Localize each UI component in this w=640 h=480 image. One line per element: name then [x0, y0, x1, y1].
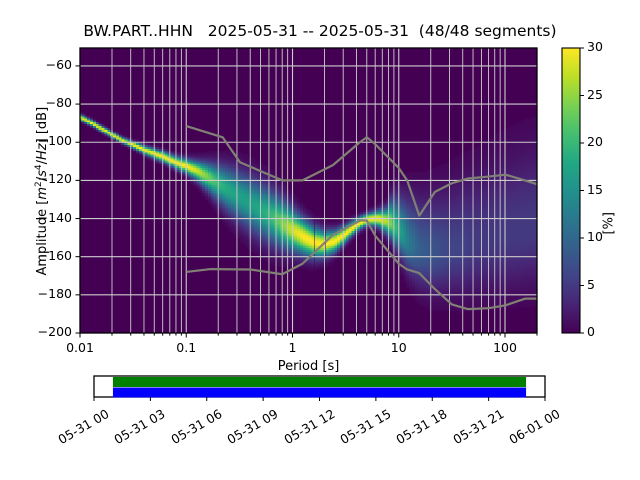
low-noise-model-curve [186, 220, 537, 309]
x-tick-label: 0.1 [146, 340, 226, 355]
colorbar-ticks [580, 48, 584, 333]
timeline-tick-label: 06-01 00 [498, 406, 563, 452]
plot-gridlines [80, 48, 537, 333]
colorbar-tick-label: 25 [587, 87, 603, 102]
x-tick-label: 0.01 [40, 340, 120, 355]
y-tick-label: −200 [0, 324, 72, 339]
x-axis-label: Period [s] [0, 359, 617, 374]
axis-ticks [76, 66, 538, 338]
timeline-tick-label: 05-31 21 [441, 406, 506, 452]
timeline-tick-label: 05-31 18 [385, 406, 450, 452]
data-availability-bar [113, 388, 526, 398]
plot-background [80, 48, 537, 333]
x-tick-label: 1 [253, 340, 333, 355]
figure-title: BW.PART..HHN 2025-05-31 -- 2025-05-31 (4… [0, 22, 640, 40]
ppsd-axes [0, 0, 640, 480]
timeline-tick-label: 05-31 09 [216, 406, 281, 452]
timeline-frame [94, 376, 545, 397]
plot-frame [80, 48, 537, 333]
timeline-tick-label: 05-31 03 [103, 406, 168, 452]
x-tick-label: 100 [465, 340, 545, 355]
peterson-noise-models [186, 126, 537, 309]
timeline-tick-label: 05-31 12 [272, 406, 337, 452]
ppsd-figure: BW.PART..HHN 2025-05-31 -- 2025-05-31 (4… [0, 0, 640, 480]
y-axis-label: Amplitude [m2/s4/Hz] [dB] [34, 61, 50, 321]
high-noise-model-curve [186, 126, 537, 216]
ppsd-histogram [79, 113, 539, 313]
timeline-tick-label: 05-31 00 [47, 406, 112, 452]
x-tick-label: 10 [359, 340, 439, 355]
colorbar-tick-label: 0 [587, 324, 595, 339]
colorbar-gradient [562, 48, 580, 333]
colorbar-tick-label: 5 [587, 277, 595, 292]
timeline-axes [94, 376, 545, 401]
timeline-tick-label: 05-31 15 [329, 406, 394, 452]
colorbar-tick-label: 30 [587, 39, 603, 54]
colorbar-label: [%] [602, 145, 617, 235]
psd-segments-bar [113, 377, 526, 387]
timeline-tick-label: 05-31 06 [160, 406, 225, 452]
